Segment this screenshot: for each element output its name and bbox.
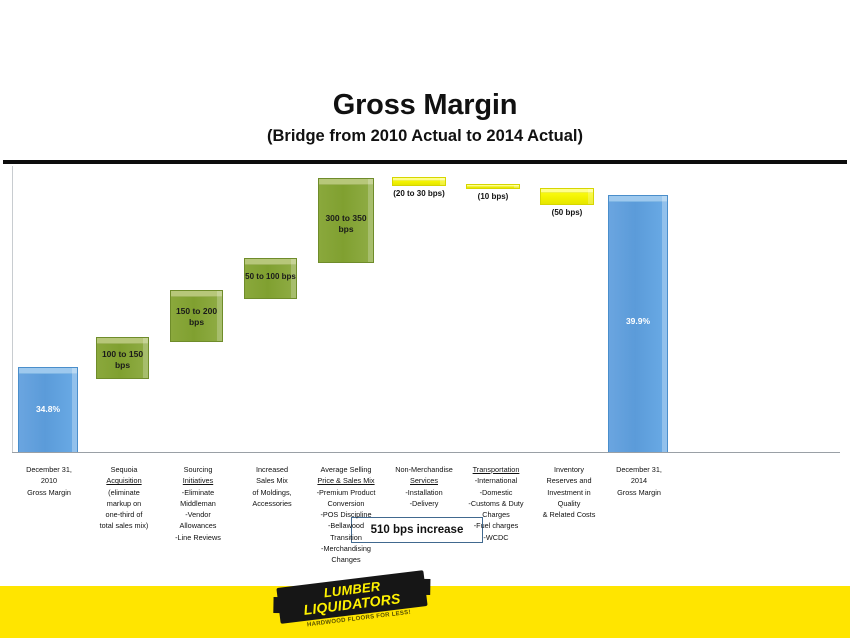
bar-label-transportation: (10 bps) bbox=[463, 192, 523, 202]
bar-inventory-reserves[interactable] bbox=[540, 188, 594, 205]
category-subline: Conversion bbox=[304, 498, 388, 509]
bar-label-moldings-accessories: 50 to 100 bps bbox=[245, 271, 296, 282]
bar-side-shade bbox=[143, 338, 148, 378]
category-head-line1: Increased bbox=[232, 464, 312, 475]
category-subline: -POS Discipline bbox=[304, 509, 388, 520]
category-head-line2: Initiatives bbox=[158, 475, 238, 486]
page-title: Gross Margin bbox=[0, 88, 850, 122]
bar-sequoia-acquisition[interactable]: 100 to 150 bps bbox=[96, 337, 149, 379]
bar-label-non-merchandise-services: (20 to 30 bps) bbox=[387, 189, 451, 199]
category-subline: -WCDC bbox=[454, 532, 538, 543]
category-subline: -Domestic bbox=[454, 487, 538, 498]
category-label-sourcing-initiatives: Sourcing Initiatives -Eliminate Middlema… bbox=[158, 464, 238, 543]
bar-side-shade bbox=[291, 259, 296, 298]
bar-side-shade bbox=[588, 189, 593, 204]
category-head-line1: December 31, bbox=[598, 464, 680, 475]
bar-asp-sales-mix[interactable]: 300 to 350 bps bbox=[318, 178, 374, 263]
category-head-line2: Acquisition bbox=[84, 475, 164, 486]
category-head-line1: Sequoia bbox=[84, 464, 164, 475]
category-label-transportation: Transportation -International -Domestic … bbox=[454, 464, 538, 543]
category-head-line2: 2010 bbox=[8, 475, 90, 486]
category-subline: (eliminate bbox=[84, 487, 164, 498]
category-subline: Allowances bbox=[158, 520, 238, 531]
category-subline: Transition bbox=[304, 532, 388, 543]
category-label-non-merchandise-services: Non-Merchandise Services -Installation -… bbox=[384, 464, 464, 509]
bar-label-sequoia-acquisition: 100 to 150 bps bbox=[97, 349, 148, 371]
bar-top-cap bbox=[609, 196, 667, 202]
bar-side-shade bbox=[662, 196, 667, 452]
bar-side-shade bbox=[514, 185, 519, 188]
category-subline: markup on bbox=[84, 498, 164, 509]
category-label-sequoia-acquisition: Sequoia Acquisition (eliminate markup on… bbox=[84, 464, 164, 532]
category-subline: & Related Costs bbox=[528, 509, 610, 520]
category-label-moldings-accessories: Increased Sales Mix of Moldings, Accesso… bbox=[232, 464, 312, 509]
category-label-gm-2010: December 31, 2010 Gross Margin bbox=[8, 464, 90, 498]
category-label-gm-2014: December 31, 2014 Gross Margin bbox=[598, 464, 680, 498]
category-head-line1: Non-Merchandise bbox=[384, 464, 464, 475]
category-subline: -International bbox=[454, 475, 538, 486]
bar-side-shade bbox=[72, 368, 77, 452]
bar-top-cap bbox=[245, 259, 296, 265]
bar-label-inventory-reserves: (50 bps) bbox=[537, 208, 597, 218]
category-head-line2: Sales Mix bbox=[232, 475, 312, 486]
category-label-asp-sales-mix: Average Selling Price & Sales Mix -Premi… bbox=[304, 464, 388, 566]
bar-top-cap bbox=[541, 189, 593, 193]
category-subline: Accessories bbox=[232, 498, 312, 509]
bar-top-cap bbox=[393, 178, 445, 181]
category-subline: -Customs & Duty bbox=[454, 498, 538, 509]
bar-non-merchandise-services[interactable] bbox=[392, 177, 446, 186]
category-subline: -Eliminate bbox=[158, 487, 238, 498]
page-subtitle: (Bridge from 2010 Actual to 2014 Actual) bbox=[0, 125, 850, 147]
bar-sourcing-initiatives[interactable]: 150 to 200 bps bbox=[170, 290, 223, 342]
category-subline: one-third of bbox=[84, 509, 164, 520]
category-subline: -Premium Product bbox=[304, 487, 388, 498]
category-head-line1: Average Selling bbox=[304, 464, 388, 475]
category-head-line1: Transportation bbox=[454, 464, 538, 475]
lumber-liquidators-logo: LUMBER LIQUIDATORS HARDWOOD FLOORS FOR L… bbox=[278, 575, 428, 627]
bar-top-cap bbox=[97, 338, 148, 344]
category-head-line2: 2014 bbox=[598, 475, 680, 486]
category-axis-labels: December 31, 2010 Gross Margin Sequoia A… bbox=[0, 464, 850, 576]
category-subline: -Bellawood bbox=[304, 520, 388, 531]
category-subline: -Merchandising bbox=[304, 543, 388, 554]
bar-label-sourcing-initiatives: 150 to 200 bps bbox=[171, 306, 222, 328]
category-head-line2: Services bbox=[384, 475, 464, 486]
bar-transportation[interactable] bbox=[466, 184, 520, 189]
category-subline: Quality bbox=[528, 498, 610, 509]
bar-gm-2014[interactable]: 39.9% bbox=[608, 195, 668, 453]
bar-top-cap bbox=[19, 368, 77, 374]
category-head-line1: Sourcing bbox=[158, 464, 238, 475]
category-subline: -Fuel charges bbox=[454, 520, 538, 531]
bar-label-gm-2014: 39.9% bbox=[609, 316, 667, 327]
bar-top-cap bbox=[467, 185, 519, 187]
chart-plot-area: 34.8% 100 to 150 bps 150 to 200 bps 50 t… bbox=[0, 164, 850, 456]
bar-label-gm-2010: 34.8% bbox=[19, 404, 77, 415]
category-subline: Changes bbox=[304, 554, 388, 565]
bar-moldings-accessories[interactable]: 50 to 100 bps bbox=[244, 258, 297, 299]
category-subline: total sales mix) bbox=[84, 520, 164, 531]
category-head-line2: Price & Sales Mix bbox=[304, 475, 388, 486]
category-subline: Middleman bbox=[158, 498, 238, 509]
category-head-line1: December 31, bbox=[8, 464, 90, 475]
slide-canvas: Gross Margin (Bridge from 2010 Actual to… bbox=[0, 0, 850, 638]
category-subline: -Line Reviews bbox=[158, 532, 238, 543]
category-subline: -Delivery bbox=[384, 498, 464, 509]
bar-label-asp-sales-mix: 300 to 350 bps bbox=[319, 213, 373, 235]
category-subline: Charges bbox=[454, 509, 538, 520]
category-subline: Gross Margin bbox=[598, 487, 680, 498]
bar-gm-2010[interactable]: 34.8% bbox=[18, 367, 78, 453]
axis-baseline bbox=[12, 452, 840, 453]
bar-side-shade bbox=[440, 178, 445, 185]
bar-top-cap bbox=[171, 291, 222, 297]
bar-top-cap bbox=[319, 179, 373, 185]
category-subline: -Vendor bbox=[158, 509, 238, 520]
category-subline: of Moldings, bbox=[232, 487, 312, 498]
category-subline: -Installation bbox=[384, 487, 464, 498]
bar-side-shade bbox=[368, 179, 373, 262]
bar-side-shade bbox=[217, 291, 222, 341]
category-head-line3: Gross Margin bbox=[8, 487, 90, 498]
axis-left-line bbox=[12, 166, 13, 452]
title-block: Gross Margin (Bridge from 2010 Actual to… bbox=[0, 88, 850, 147]
